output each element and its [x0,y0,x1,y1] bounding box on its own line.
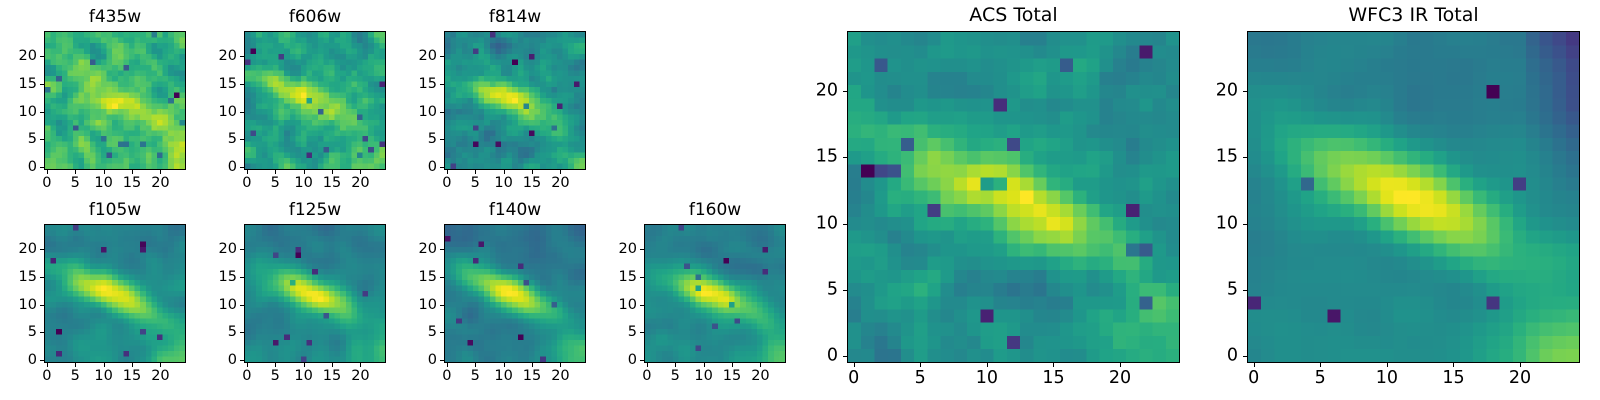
x-tick-mark [1520,363,1521,367]
x-tick-label: 0 [1248,370,1259,388]
panel-title-wfc3ir: WFC3 IR Total [1247,6,1580,25]
panel-wfc3ir: WFC3 IR Total0055101015152020 [0,0,1600,400]
x-tick-mark [1320,363,1321,367]
y-tick-mark [1243,356,1247,357]
x-tick-label: 15 [1442,370,1464,388]
x-tick-label: 20 [1509,370,1531,388]
y-tick-mark [1243,157,1247,158]
y-tick-mark [1243,91,1247,92]
y-tick-label: 10 [1178,215,1238,233]
x-tick-label: 10 [1376,370,1398,388]
x-tick-label: 5 [1315,370,1326,388]
y-tick-mark [1243,224,1247,225]
heatmap-wfc3ir[interactable] [1247,31,1580,363]
x-tick-mark [1387,363,1388,367]
y-tick-label: 20 [1178,82,1238,100]
y-tick-mark [1243,290,1247,291]
figure-canvas: f435w0055101015152020f606w00551010151520… [0,0,1600,400]
x-tick-mark [1453,363,1454,367]
x-tick-mark [1254,363,1255,367]
y-tick-label: 0 [1178,348,1238,366]
y-tick-label: 15 [1178,148,1238,166]
y-tick-label: 5 [1178,281,1238,299]
